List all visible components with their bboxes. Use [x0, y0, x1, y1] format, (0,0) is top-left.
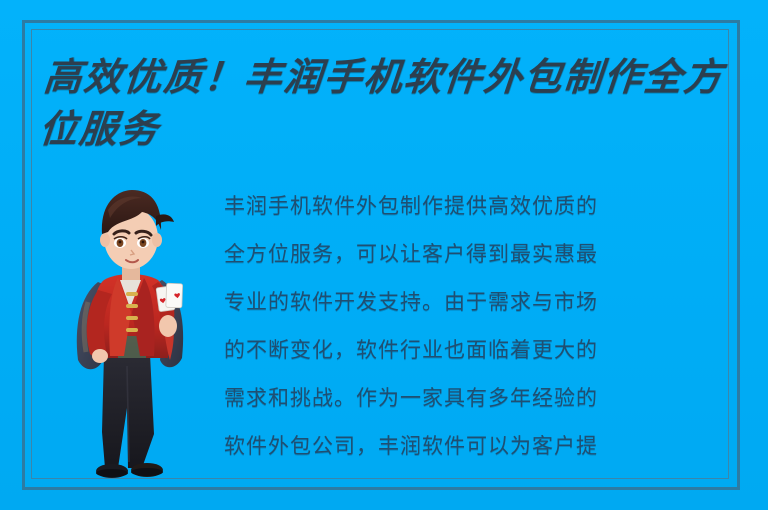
body-line-4: 的不断变化，软件行业也面临着更大的 — [224, 326, 724, 374]
title-line-2: 位服务 — [37, 104, 731, 154]
character-legs — [102, 354, 154, 468]
page-title: 高效优质！丰润手机软件外包制作全方 位服务 — [37, 52, 736, 154]
character-illustration — [58, 176, 208, 486]
body-paragraph: 丰润手机软件外包制作提供高效优质的 全方位服务，可以让客户得到最实惠最 专业的软… — [224, 182, 724, 470]
body-line-1: 丰润手机软件外包制作提供高效优质的 — [224, 182, 724, 230]
title-line-1: 高效优质！丰润手机软件外包制作全方 — [42, 52, 736, 102]
body-line-5: 需求和挑战。作为一家具有多年经验的 — [224, 374, 724, 422]
body-line-3: 专业的软件开发支持。由于需求与市场 — [224, 278, 724, 326]
character-head — [100, 190, 174, 269]
body-line-6: 软件外包公司，丰润软件可以为客户提 — [224, 422, 724, 470]
poster-canvas: 高效优质！丰润手机软件外包制作全方 位服务 丰润手机软件外包制作提供高效优质的 … — [0, 0, 768, 510]
body-line-2: 全方位服务，可以让客户得到最实惠最 — [224, 230, 724, 278]
